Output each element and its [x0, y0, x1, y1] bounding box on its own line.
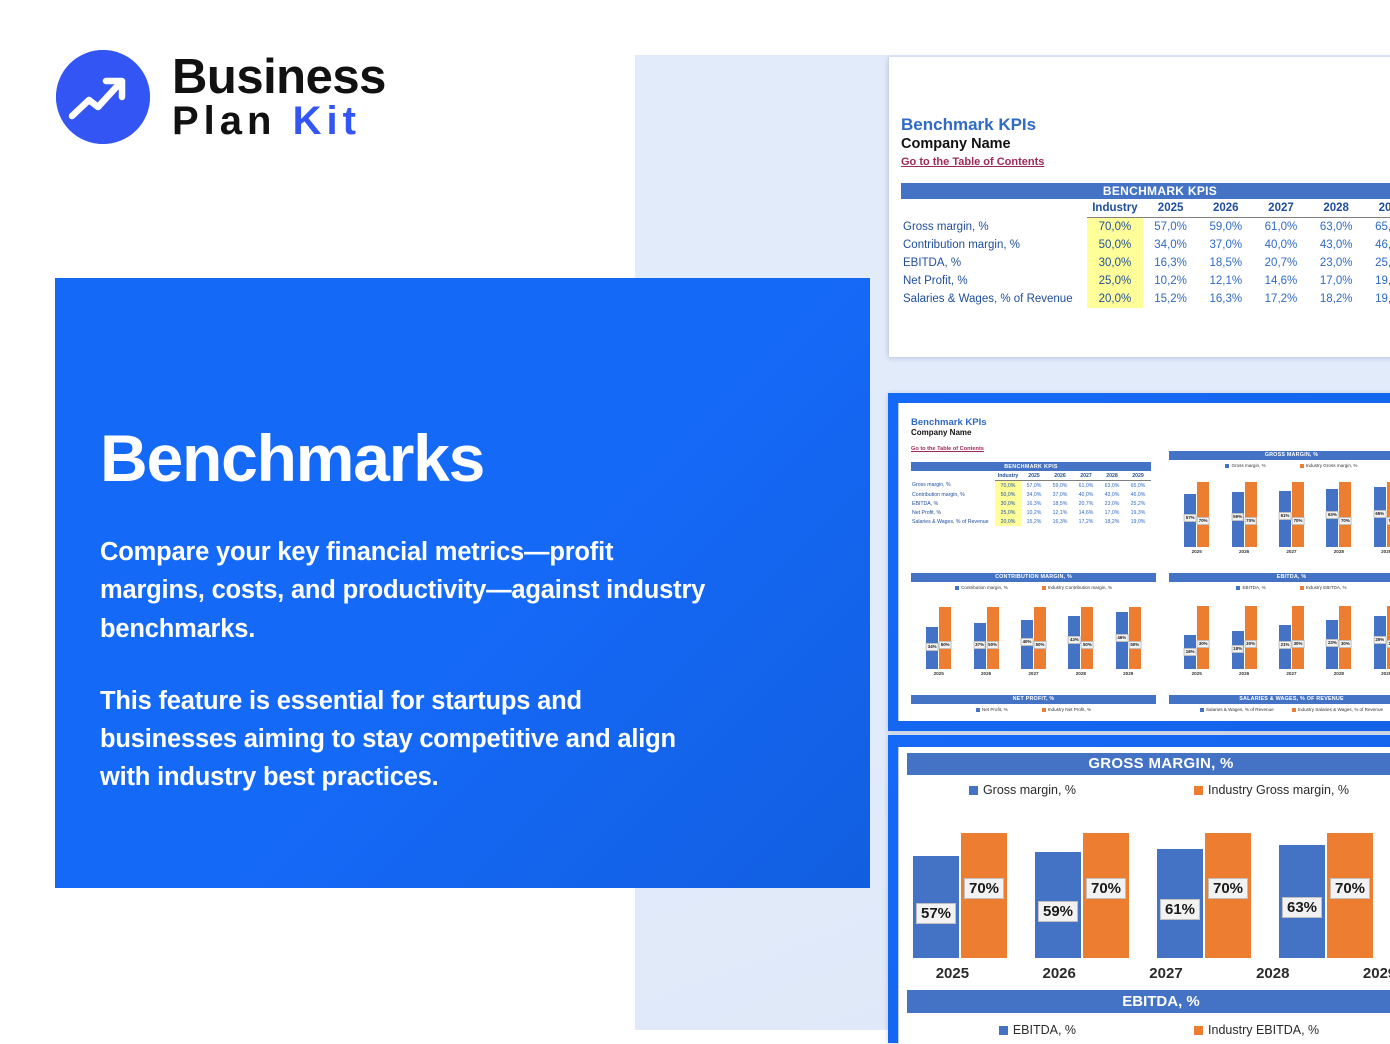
bar-data-label: 70% [1208, 878, 1248, 899]
year-value-cell: 37,0% [1047, 490, 1073, 499]
column-header: 2026 [1047, 471, 1073, 481]
bar-data-label: 65% [1373, 510, 1386, 518]
bar-data-label: 70% [1244, 517, 1257, 525]
x-tick-label: 2029 [1108, 671, 1148, 676]
chart-legend: EBITDA, % Industry EBITDA, % [1169, 585, 1390, 590]
bar-data-label: 70% [1339, 517, 1352, 525]
year-value-cell: 18,5% [1198, 254, 1253, 272]
bar-company: 65% [1374, 487, 1386, 547]
chart-legend: Gross margin, % Industry Gross margin, % [1169, 463, 1390, 468]
column-header: 2026 [1198, 199, 1253, 218]
year-value-cell: 61,0% [1253, 218, 1308, 237]
bar-industry: 70% [1327, 833, 1373, 958]
sheet-subtitle: Company Name [901, 136, 1390, 152]
spreadsheet-sheet: Benchmark KPIs Company Name Go to the Ta… [889, 57, 1390, 308]
row-label: Salaries & Wages, % of Revenue [901, 290, 1087, 308]
bar-group: 34%50% [919, 595, 959, 669]
industry-value-cell: 70,0% [1087, 218, 1143, 237]
column-header: 2027 [1073, 471, 1099, 481]
x-tick-label: 2027 [1013, 671, 1053, 676]
bar-group: 43%50% [1061, 595, 1101, 669]
legend-item-series-2: Industry EBITDA, % [1300, 585, 1347, 590]
x-tick-label: 2027 [1271, 671, 1311, 676]
bar-group: 65%70% [1366, 473, 1390, 547]
bar-data-label: 21% [1279, 641, 1292, 649]
year-value-cell: 16,3% [1198, 290, 1253, 308]
industry-value-cell: 25,0% [1087, 272, 1143, 290]
table-row: Contribution margin, %50,0%34,0%37,0%40,… [901, 236, 1390, 254]
year-value-cell: 25,2% [1125, 499, 1151, 508]
brand-line-business: Business [172, 54, 386, 101]
bar-company: 21% [1279, 625, 1291, 669]
table-row: Gross margin, %70,0%57,0%59,0%61,0%63,0%… [911, 481, 1151, 491]
x-tick-label: 2029 [1366, 549, 1390, 554]
row-label: Contribution margin, % [911, 490, 995, 499]
legend-item-series-2: Industry Gross margin, % [1194, 783, 1349, 797]
bar-group: 59%70% [1224, 473, 1264, 547]
column-header: Industry [995, 471, 1021, 481]
table-row: Salaries & Wages, % of Revenue20,0%15,2%… [901, 290, 1390, 308]
year-value-cell: 40,0% [1253, 236, 1308, 254]
bar-group: 61%70% [1271, 473, 1311, 547]
bar-industry: 30% [1197, 606, 1209, 669]
bar-company: 61% [1157, 849, 1203, 958]
column-header: 2029 [1364, 199, 1390, 218]
table-header-row: Industry20252026202720282029 [911, 471, 1151, 481]
industry-value-cell: 20,0% [1087, 290, 1143, 308]
table-row: Net Profit, %25,0%10,2%12,1%14,6%17,0%19… [911, 508, 1151, 517]
legend-item-series-2: Industry Salaries & Wages, % of Revenue [1292, 707, 1383, 712]
chart-legend: Gross margin, % Industry Gross margin, % [899, 783, 1390, 797]
benchmark-kpi-table: BENCHMARK KPISIndustry202520262027202820… [911, 462, 1151, 526]
year-value-cell: 17,0% [1099, 508, 1125, 517]
chart-x-axis: 20252026202720282029 [899, 965, 1390, 982]
bar-data-label: 63% [1326, 511, 1339, 519]
year-value-cell: 10,2% [1021, 508, 1047, 517]
legend-item-series-1: Contribution margin, % [955, 585, 1008, 590]
bar-company: 40% [1021, 620, 1033, 669]
table-band-header-row: BENCHMARK KPIS [911, 462, 1151, 471]
row-label: Net Profit, % [901, 272, 1087, 290]
x-tick-label: 2026 [966, 671, 1006, 676]
bar-data-label: 70% [1086, 878, 1126, 899]
description-paragraph-1: Compare your key financial metrics—profi… [100, 533, 720, 648]
industry-value-cell: 70,0% [995, 481, 1021, 491]
year-value-cell: 15,2% [1021, 517, 1047, 526]
year-value-cell: 20,7% [1253, 254, 1308, 272]
legend-item-series-1: EBITDA, % [1236, 585, 1265, 590]
bar-data-label: 63% [1282, 897, 1322, 918]
legend-item-series-2: Industry Contribution margin, % [1042, 585, 1112, 590]
table-row: EBITDA, %30,0%16,3%18,5%20,7%23,0%25,2% [901, 254, 1390, 272]
legend-item-series-2: Industry EBITDA, % [1194, 1023, 1319, 1037]
bar-data-label: 30% [1244, 640, 1257, 648]
bar-data-label: 40% [1021, 638, 1034, 646]
bar-group: 63%70% [1279, 815, 1373, 958]
bar-industry: 50% [1081, 607, 1093, 669]
x-tick-label: 2025 [1177, 671, 1217, 676]
x-tick-label: 2026 [1224, 549, 1264, 554]
benchmark-kpi-table: BENCHMARK KPISIndustry202520262027202820… [901, 183, 1390, 308]
year-value-cell: 37,0% [1198, 236, 1253, 254]
screenshot-card-gross-margin-chart[interactable]: GROSS MARGIN, % Gross margin, % Industry… [888, 735, 1390, 1043]
bar-industry: 50% [1034, 607, 1046, 669]
dashboard-sheet: Benchmark KPIs Company Name Go to the Ta… [898, 403, 1390, 721]
bar-group: 61%70% [1157, 815, 1251, 958]
row-label: Gross margin, % [901, 218, 1087, 237]
x-tick-label: 2029 [1340, 965, 1390, 982]
bar-group: 57%70% [1177, 473, 1217, 547]
x-tick-label: 2025 [1177, 549, 1217, 554]
year-value-cell: 59,0% [1047, 481, 1073, 491]
band-header-cell: BENCHMARK KPIS [901, 183, 1390, 199]
brand-logo: Business Plan Kit [56, 50, 386, 144]
year-value-cell: 16,3% [1047, 517, 1073, 526]
bar-data-label: 50% [1128, 641, 1141, 649]
chart-x-axis: 20252026202720282029 [911, 671, 1156, 676]
bar-company: 57% [1184, 494, 1196, 547]
bar-industry: 30% [1245, 606, 1257, 669]
bar-data-label: 16% [1184, 648, 1197, 656]
bar-company: 63% [1326, 489, 1338, 547]
x-tick-label: 2029 [1366, 671, 1390, 676]
screenshot-card-kpi-table[interactable]: Benchmark KPIs Company Name Go to the Ta… [888, 57, 1390, 357]
table-header-row: Industry20252026202720282029 [901, 199, 1390, 218]
x-tick-label: 2026 [1020, 965, 1099, 982]
row-label: EBITDA, % [901, 254, 1087, 272]
legend-item-series-1: Gross margin, % [1225, 463, 1265, 468]
legend-item-series-1: Salaries & Wages, % of Revenue [1200, 707, 1274, 712]
bar-data-label: 70% [1292, 517, 1305, 525]
bar-data-label: 46% [1115, 634, 1128, 642]
industry-value-cell: 25,0% [995, 508, 1021, 517]
bar-industry: 50% [939, 607, 951, 669]
bar-data-label: 50% [939, 641, 952, 649]
legend-item-series-1: Net Profit, % [976, 707, 1008, 712]
bar-company: 63% [1279, 845, 1325, 958]
bar-company: 59% [1035, 852, 1081, 958]
x-tick-label: 2025 [919, 671, 959, 676]
bar-industry: 70% [961, 833, 1007, 958]
bar-data-label: 30% [1292, 640, 1305, 648]
x-tick-label: 2027 [1271, 549, 1311, 554]
bar-industry: 70% [1292, 482, 1304, 547]
table-band-header-row: BENCHMARK KPIS [901, 183, 1390, 199]
screenshot-card-dashboard[interactable]: Benchmark KPIs Company Name Go to the Ta… [888, 393, 1390, 731]
year-value-cell: 63,0% [1309, 218, 1364, 237]
bar-group: 37%50% [966, 595, 1006, 669]
band-header-cell: BENCHMARK KPIS [911, 462, 1151, 471]
bar-company: 46% [1116, 612, 1128, 669]
bar-group: 46%50% [1108, 595, 1148, 669]
industry-value-cell: 20,0% [995, 517, 1021, 526]
year-value-cell: 17,0% [1309, 272, 1364, 290]
year-value-cell: 18,5% [1047, 499, 1073, 508]
bar-data-label: 70% [964, 878, 1004, 899]
legend-item-series-2: Industry Gross margin, % [1300, 463, 1358, 468]
x-tick-label: 2028 [1319, 549, 1359, 554]
year-value-cell: 12,1% [1198, 272, 1253, 290]
bar-data-label: 23% [1326, 639, 1339, 647]
mini-chart-net-profit[interactable]: NET PROFIT, % Net Profit, % Industry Net… [911, 695, 1156, 721]
year-value-cell: 16,3% [1143, 254, 1198, 272]
bar-data-label: 50% [986, 641, 999, 649]
bar-data-label: 57% [916, 903, 956, 924]
industry-value-cell: 30,0% [995, 499, 1021, 508]
year-value-cell: 17,2% [1073, 517, 1099, 526]
bar-industry: 30% [1292, 606, 1304, 669]
bar-data-label: 25% [1373, 636, 1386, 644]
bar-industry: 30% [1339, 606, 1351, 669]
growth-arrow-icon [56, 50, 150, 144]
bar-data-label: 18% [1231, 645, 1244, 653]
legend-item-series-2: Industry Net Profit, % [1042, 707, 1091, 712]
sheet-title: Benchmark KPIs [901, 115, 1390, 135]
table-row: Salaries & Wages, % of Revenue20,0%15,2%… [911, 517, 1151, 526]
bar-industry: 70% [1197, 482, 1209, 547]
industry-value-cell: 30,0% [1087, 254, 1143, 272]
bar-data-label: 30% [1339, 640, 1352, 648]
bar-data-label: 34% [926, 643, 939, 651]
year-value-cell: 34,0% [1143, 236, 1198, 254]
column-header: 2028 [1099, 471, 1125, 481]
brand-word-plan: Plan [172, 99, 276, 143]
year-value-cell: 65,0% [1364, 218, 1390, 237]
year-value-cell: 23,0% [1309, 254, 1364, 272]
bar-industry: 70% [1245, 482, 1257, 547]
year-value-cell: 23,0% [1099, 499, 1125, 508]
bar-company: 59% [1232, 492, 1244, 547]
legend-item-series-1: EBITDA, % [999, 1023, 1076, 1037]
chart-title-ebitda: EBITDA, % [907, 990, 1390, 1013]
chart-plot-area: 57%70%59%70%61%70%63%70%65%70% [899, 815, 1390, 958]
bar-company: 57% [913, 856, 959, 958]
chart-title: CONTRIBUTION MARGIN, % [911, 573, 1156, 582]
sheet-subtitle: Company Name [911, 428, 1390, 437]
industry-value-cell: 50,0% [995, 490, 1021, 499]
industry-value-cell: 50,0% [1087, 236, 1143, 254]
year-value-cell: 19,3% [1364, 272, 1390, 290]
sheet-title: Benchmark KPIs [911, 417, 1390, 428]
mini-chart-gross-margin[interactable]: GROSS MARGIN, % Gross margin, % Industry… [1169, 451, 1390, 566]
bar-data-label: 61% [1160, 899, 1200, 920]
table-of-contents-link[interactable]: Go to the Table of Contents [901, 156, 1044, 168]
chart-x-axis: 20252026202720282029 [1169, 549, 1390, 554]
table-of-contents-link[interactable]: Go to the Table of Contents [911, 446, 984, 452]
large-chart-sheet: GROSS MARGIN, % Gross margin, % Industry… [898, 747, 1390, 1044]
bar-industry: 70% [1339, 482, 1351, 547]
year-value-cell: 61,0% [1073, 481, 1099, 491]
bar-industry: 70% [1083, 833, 1129, 958]
table-row: Net Profit, %25,0%10,2%12,1%14,6%17,0%19… [901, 272, 1390, 290]
year-value-cell: 25,2% [1364, 254, 1390, 272]
table-row: Contribution margin, %50,0%34,0%37,0%40,… [911, 490, 1151, 499]
bar-company: 34% [926, 627, 938, 669]
page-title: Benchmarks [100, 425, 740, 491]
year-value-cell: 20,7% [1073, 499, 1099, 508]
bar-industry: 50% [987, 607, 999, 669]
mini-chart-salaries-wages[interactable]: SALARIES & WAGES, % OF REVENUE Salaries … [1169, 695, 1390, 721]
bar-group: 16%30% [1177, 595, 1217, 669]
bar-group: 18%30% [1224, 595, 1264, 669]
bar-data-label: 50% [1034, 641, 1047, 649]
kpi-table-body: BENCHMARK KPISIndustry202520262027202820… [901, 183, 1390, 308]
table-row: Gross margin, %70,0%57,0%59,0%61,0%63,0%… [901, 218, 1390, 237]
year-value-cell: 19,3% [1125, 508, 1151, 517]
column-header: 2027 [1253, 199, 1308, 218]
chart-title: EBITDA, % [1169, 573, 1390, 582]
chart-title: GROSS MARGIN, % [1169, 451, 1390, 460]
bar-data-label: 43% [1068, 636, 1081, 644]
chart-title: SALARIES & WAGES, % OF REVENUE [1169, 695, 1390, 704]
kpi-table-body: BENCHMARK KPISIndustry202520262027202820… [911, 462, 1151, 526]
legend-item-series-1: Gross margin, % [969, 783, 1076, 797]
bar-group: 59%70% [1035, 815, 1129, 958]
bar-data-label: 70% [1330, 878, 1370, 899]
bar-group: 23%30% [1319, 595, 1359, 669]
column-header [901, 199, 1087, 218]
year-value-cell: 57,0% [1021, 481, 1047, 491]
year-value-cell: 12,1% [1047, 508, 1073, 517]
bar-company: 61% [1279, 491, 1291, 547]
chart-legend: Contribution margin, % Industry Contribu… [911, 585, 1156, 590]
x-tick-label: 2025 [913, 965, 992, 982]
year-value-cell: 57,0% [1143, 218, 1198, 237]
year-value-cell: 19,0% [1125, 517, 1151, 526]
chart-legend: Salaries & Wages, % of Revenue Industry … [1169, 707, 1390, 712]
row-label: Contribution margin, % [901, 236, 1087, 254]
x-tick-label: 2028 [1233, 965, 1312, 982]
bar-industry: 70% [1205, 833, 1251, 958]
bar-company: 23% [1326, 620, 1338, 669]
brand-wordmark: Business Plan Kit [172, 54, 386, 141]
year-value-cell: 65,0% [1125, 481, 1151, 491]
mini-chart-ebitda[interactable]: EBITDA, % EBITDA, % Industry EBITDA, % 1… [1169, 573, 1390, 688]
row-label: EBITDA, % [911, 499, 995, 508]
chart-legend: Net Profit, % Industry Net Profit, % [911, 707, 1156, 712]
chart-title: NET PROFIT, % [911, 695, 1156, 704]
row-label: Net Profit, % [911, 508, 995, 517]
bar-group: 63%70% [1319, 473, 1359, 547]
bar-data-label: 30% [1386, 640, 1390, 648]
year-value-cell: 16,3% [1021, 499, 1047, 508]
x-tick-label: 2027 [1127, 965, 1206, 982]
year-value-cell: 18,2% [1099, 517, 1125, 526]
bar-data-label: 30% [1197, 640, 1210, 648]
row-label: Gross margin, % [911, 481, 995, 491]
bar-group: 40%50% [1013, 595, 1053, 669]
bar-data-label: 61% [1279, 512, 1292, 520]
bar-company: 18% [1232, 631, 1244, 669]
bar-data-label: 59% [1038, 901, 1078, 922]
year-value-cell: 14,6% [1253, 272, 1308, 290]
bar-group: 21%30% [1271, 595, 1311, 669]
year-value-cell: 14,6% [1073, 508, 1099, 517]
bar-company: 43% [1068, 616, 1080, 669]
bar-industry: 50% [1129, 607, 1141, 669]
bar-data-label: 59% [1231, 513, 1244, 521]
bar-data-label: 57% [1184, 514, 1197, 522]
bar-group: 25%30% [1366, 595, 1390, 669]
brand-word-kit: Kit [293, 99, 361, 143]
chart-x-axis: 20252026202720282029 [1169, 671, 1390, 676]
year-value-cell: 43,0% [1099, 490, 1125, 499]
year-value-cell: 15,2% [1143, 290, 1198, 308]
column-header: Industry [1087, 199, 1143, 218]
column-header: 2028 [1309, 199, 1364, 218]
bar-data-label: 70% [1386, 517, 1390, 525]
chart-title: GROSS MARGIN, % [907, 753, 1390, 775]
year-value-cell: 46,0% [1125, 490, 1151, 499]
mini-chart-contribution-margin[interactable]: CONTRIBUTION MARGIN, % Contribution marg… [911, 573, 1156, 688]
bar-company: 37% [974, 623, 986, 669]
row-label: Salaries & Wages, % of Revenue [911, 517, 995, 526]
brand-line-plan-kit: Plan Kit [172, 102, 386, 140]
column-header: 2025 [1021, 471, 1047, 481]
year-value-cell: 34,0% [1021, 490, 1047, 499]
year-value-cell: 18,2% [1309, 290, 1364, 308]
x-tick-label: 2028 [1061, 671, 1101, 676]
year-value-cell: 10,2% [1143, 272, 1198, 290]
description-paragraph-2: This feature is essential for startups a… [100, 682, 720, 797]
chart-legend-ebitda: EBITDA, % Industry EBITDA, % [899, 1023, 1390, 1037]
year-value-cell: 40,0% [1073, 490, 1099, 499]
bar-company: 25% [1374, 616, 1386, 669]
year-value-cell: 46,0% [1364, 236, 1390, 254]
slide-text-block: Benchmarks Compare your key financial me… [100, 425, 740, 797]
bar-data-label: 37% [973, 641, 986, 649]
chart-plot-area: 57%70%59%70%61%70%63%70%65%70% [1169, 473, 1390, 547]
column-header: 2025 [1143, 199, 1198, 218]
year-value-cell: 59,0% [1198, 218, 1253, 237]
year-value-cell: 19,0% [1364, 290, 1390, 308]
bar-data-label: 70% [1197, 517, 1210, 525]
column-header: 2029 [1125, 471, 1151, 481]
bar-data-label: 50% [1081, 641, 1094, 649]
x-tick-label: 2028 [1319, 671, 1359, 676]
column-header [911, 471, 995, 481]
bar-group: 57%70% [913, 815, 1007, 958]
table-row: EBITDA, %30,0%16,3%18,5%20,7%23,0%25,2% [911, 499, 1151, 508]
x-tick-label: 2026 [1224, 671, 1264, 676]
year-value-cell: 63,0% [1099, 481, 1125, 491]
bar-company: 16% [1184, 635, 1196, 669]
chart-plot-area: 16%30%18%30%21%30%23%30%25%30% [1169, 595, 1390, 669]
year-value-cell: 17,2% [1253, 290, 1308, 308]
chart-plot-area: 34%50%37%50%40%50%43%50%46%50% [911, 595, 1156, 669]
year-value-cell: 43,0% [1309, 236, 1364, 254]
